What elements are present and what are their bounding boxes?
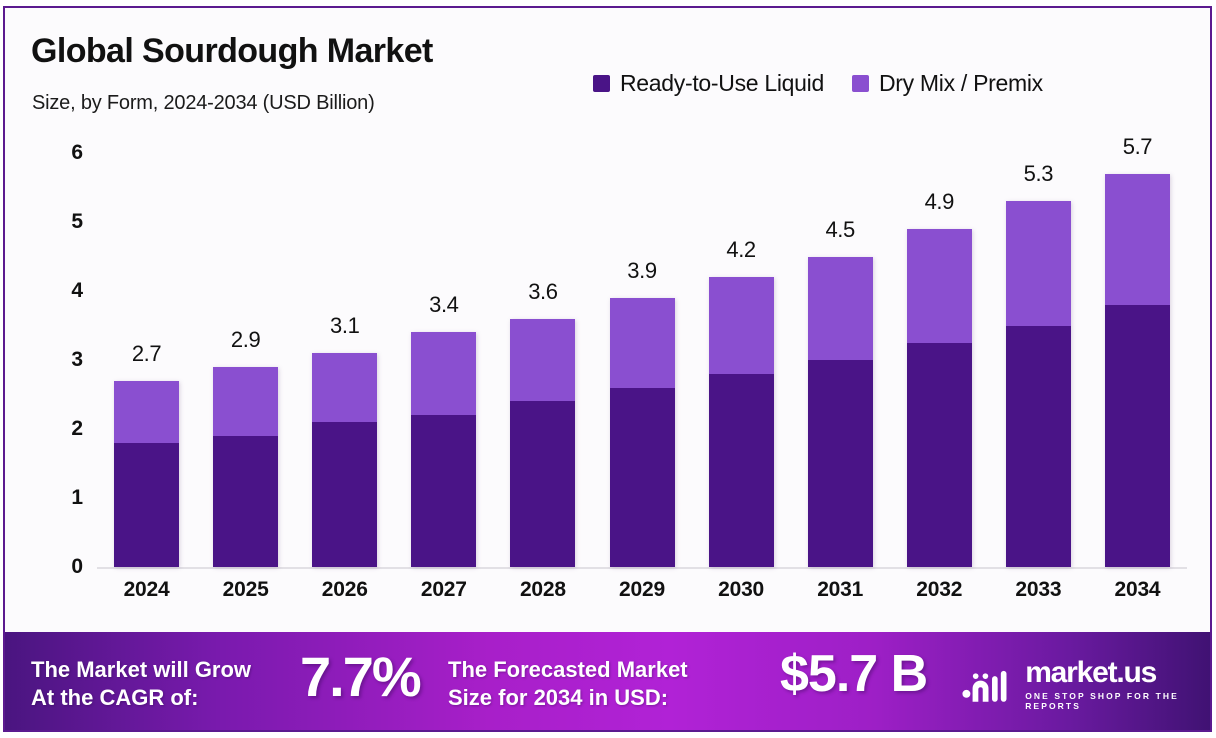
y-axis-tick-label: 3 (43, 348, 83, 372)
stacked-bar[interactable] (510, 319, 575, 567)
bar-value-label: 3.6 (528, 279, 557, 305)
x-axis-tick-label: 2029 (587, 578, 697, 602)
forecast-caption: The Forecasted Market Size for 2034 in U… (448, 656, 688, 711)
bar-segment-ready-to-use-liquid[interactable] (1006, 326, 1071, 568)
cagr-value: 7.7% (300, 644, 420, 709)
bar-segment-ready-to-use-liquid[interactable] (312, 422, 377, 567)
stacked-bar[interactable] (1006, 201, 1071, 567)
bar-value-label: 2.9 (231, 327, 260, 353)
bar-value-label: 4.2 (726, 237, 755, 263)
cagr-caption-line2: At the CAGR of: (31, 684, 251, 712)
bar-column[interactable] (610, 138, 675, 567)
bar-segment-ready-to-use-liquid[interactable] (114, 443, 179, 567)
bar-segment-dry-mix-premix[interactable] (907, 229, 972, 343)
bar-segment-dry-mix-premix[interactable] (610, 298, 675, 388)
stacked-bar[interactable] (213, 367, 278, 567)
forecast-caption-line2: Size for 2034 in USD: (448, 684, 688, 712)
stacked-bar[interactable] (808, 257, 873, 568)
y-axis-tick-label: 0 (43, 555, 83, 579)
x-axis-line (97, 567, 1187, 569)
bar-column[interactable] (1006, 138, 1071, 567)
bar-value-label: 5.7 (1123, 134, 1152, 160)
y-axis-tick-label: 6 (43, 141, 83, 165)
footer-banner: The Market will Grow At the CAGR of: 7.7… (5, 632, 1212, 730)
stacked-bar[interactable] (1105, 174, 1170, 567)
bar-column[interactable] (1105, 138, 1170, 567)
bar-value-label: 3.9 (627, 258, 656, 284)
bar-segment-dry-mix-premix[interactable] (709, 277, 774, 374)
bar-segment-ready-to-use-liquid[interactable] (411, 415, 476, 567)
logo-wordmark: market.us (1025, 658, 1212, 688)
bar-value-label: 3.4 (429, 292, 458, 318)
chart-infographic: Global Sourdough Market Size, by Form, 2… (0, 0, 1216, 738)
bar-segment-ready-to-use-liquid[interactable] (1105, 305, 1170, 567)
bar-column[interactable] (808, 138, 873, 567)
x-axis-tick-label: 2034 (1082, 578, 1192, 602)
bar-value-label: 3.1 (330, 313, 359, 339)
stacked-bar[interactable] (312, 353, 377, 567)
bar-value-label: 4.9 (925, 189, 954, 215)
bar-column[interactable] (312, 138, 377, 567)
bar-segment-ready-to-use-liquid[interactable] (610, 388, 675, 567)
x-axis-tick-label: 2028 (488, 578, 598, 602)
bar-value-label: 2.7 (132, 341, 161, 367)
cagr-caption: The Market will Grow At the CAGR of: (31, 656, 251, 711)
cagr-caption-line1: The Market will Grow (31, 656, 251, 684)
x-axis-tick-label: 2033 (983, 578, 1093, 602)
bar-segment-dry-mix-premix[interactable] (312, 353, 377, 422)
bar-column[interactable] (510, 138, 575, 567)
stacked-bar[interactable] (411, 332, 476, 567)
y-axis-tick-label: 2 (43, 417, 83, 441)
bar-segment-ready-to-use-liquid[interactable] (907, 343, 972, 567)
bar-column[interactable] (709, 138, 774, 567)
x-axis-tick-label: 2026 (290, 578, 400, 602)
bar-value-label: 4.5 (825, 217, 854, 243)
chart-card: Global Sourdough Market Size, by Form, 2… (3, 6, 1212, 732)
x-axis-tick-label: 2030 (686, 578, 796, 602)
y-axis-tick-label: 1 (43, 486, 83, 510)
forecast-caption-line1: The Forecasted Market (448, 656, 688, 684)
bar-segment-ready-to-use-liquid[interactable] (213, 436, 278, 567)
bar-column[interactable] (411, 138, 476, 567)
x-axis-tick-label: 2027 (389, 578, 499, 602)
bar-segment-dry-mix-premix[interactable] (213, 367, 278, 436)
bar-segment-ready-to-use-liquid[interactable] (510, 401, 575, 567)
stacked-bar[interactable] (907, 229, 972, 567)
bar-segment-dry-mix-premix[interactable] (114, 381, 179, 443)
bar-segment-dry-mix-premix[interactable] (1006, 201, 1071, 325)
market-us-logo[interactable]: market.us ONE STOP SHOP FOR THE REPORTS (962, 658, 1212, 711)
bar-segment-dry-mix-premix[interactable] (808, 257, 873, 361)
stacked-bar[interactable] (610, 298, 675, 567)
bar-segment-dry-mix-premix[interactable] (411, 332, 476, 415)
forecast-value: $5.7 B (780, 644, 927, 704)
x-axis-tick-label: 2024 (92, 578, 202, 602)
bar-segment-ready-to-use-liquid[interactable] (808, 360, 873, 567)
stacked-bar[interactable] (114, 381, 179, 567)
bar-segment-ready-to-use-liquid[interactable] (709, 374, 774, 567)
plot-area: 0123456 2.72.93.13.43.63.94.24.54.95.35.… (5, 8, 1212, 628)
market-us-logo-mark-icon (962, 665, 1013, 705)
bar-value-label: 5.3 (1024, 161, 1053, 187)
x-axis-tick-label: 2031 (785, 578, 895, 602)
y-axis-tick-label: 5 (43, 210, 83, 234)
logo-tagline: ONE STOP SHOP FOR THE REPORTS (1025, 691, 1212, 711)
bar-segment-dry-mix-premix[interactable] (510, 319, 575, 402)
x-axis-tick-label: 2025 (191, 578, 301, 602)
x-axis-tick-label: 2032 (884, 578, 994, 602)
bar-series-container: 2.72.93.13.43.63.94.24.54.95.35.7 (97, 138, 1187, 567)
bar-segment-dry-mix-premix[interactable] (1105, 174, 1170, 305)
stacked-bar[interactable] (709, 277, 774, 567)
y-axis-tick-label: 4 (43, 279, 83, 303)
